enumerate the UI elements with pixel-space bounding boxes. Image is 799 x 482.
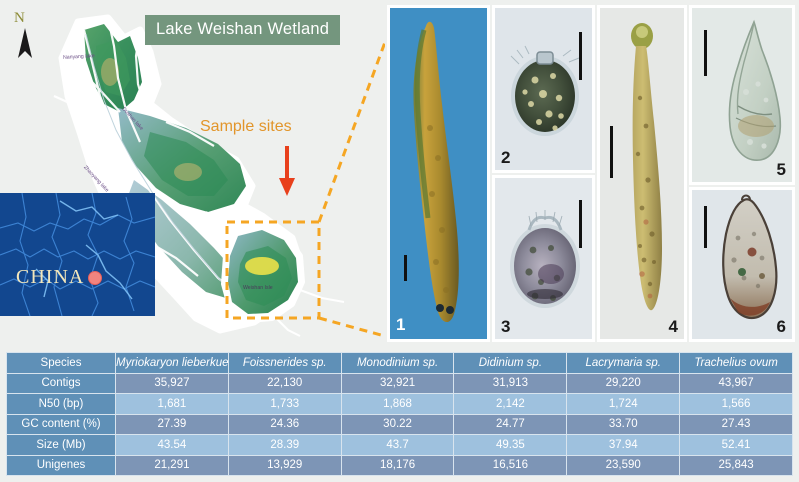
panel-number-2: 2	[501, 148, 510, 168]
row-label-unigenes: Unigenes	[7, 455, 116, 476]
cell-contigs-3: 31,913	[454, 373, 567, 394]
micrograph-panel-1: 1	[387, 5, 490, 342]
species-header-2: Monodinium sp.	[341, 353, 454, 374]
species-header-4: Lacrymaria sp.	[567, 353, 680, 374]
china-site-marker	[88, 271, 102, 285]
cell-gc-1: 24.36	[228, 414, 341, 435]
cell-unigenes-1: 13,929	[228, 455, 341, 476]
cell-n50-5: 1,566	[680, 394, 793, 415]
panel-number-4: 4	[669, 317, 678, 337]
cell-n50-1: 1,733	[228, 394, 341, 415]
cell-contigs-2: 32,921	[341, 373, 454, 394]
cell-unigenes-4: 23,590	[567, 455, 680, 476]
china-map-graphic	[0, 193, 155, 316]
cell-gc-3: 24.77	[454, 414, 567, 435]
micrograph-panel-6: 6	[689, 187, 795, 342]
cell-unigenes-0: 21,291	[116, 455, 229, 476]
table-corner-species-label: Species	[7, 353, 116, 374]
row-label-contigs: Contigs	[7, 373, 116, 394]
table-row: N50 (bp) 1,681 1,733 1,868 2,142 1,724 1…	[7, 394, 793, 415]
assembly-statistics-table: Species Myriokaryon lieberkuehnii Foissn…	[6, 352, 793, 476]
sample-sites-label: Sample sites	[200, 118, 292, 136]
cell-size-3: 49.35	[454, 435, 567, 456]
panel-number-6: 6	[777, 317, 786, 337]
china-inset-map: CHINA	[0, 193, 155, 316]
scale-bar-1	[404, 255, 407, 281]
table-row: Unigenes 21,291 13,929 18,176 16,516 23,…	[7, 455, 793, 476]
cell-contigs-0: 35,927	[116, 373, 229, 394]
sample-sites-arrow-icon	[278, 146, 296, 196]
cell-unigenes-2: 18,176	[341, 455, 454, 476]
compass-needle-icon	[16, 28, 34, 60]
scale-bar-5	[704, 30, 707, 76]
panel-number-1: 1	[396, 315, 405, 335]
cell-gc-4: 33.70	[567, 414, 680, 435]
cell-n50-2: 1,868	[341, 394, 454, 415]
panel-number-3: 3	[501, 317, 510, 337]
micrograph-panel-5: 5	[689, 5, 795, 185]
species-header-1: Foissnerides sp.	[228, 353, 341, 374]
cell-gc-2: 30.22	[341, 414, 454, 435]
scale-bar-6	[704, 206, 707, 248]
micrograph-grid: 1	[387, 5, 795, 342]
scale-bar-4	[610, 126, 613, 178]
row-label-n50: N50 (bp)	[7, 394, 116, 415]
cell-gc-5: 27.43	[680, 414, 793, 435]
species-header-3: Didinium sp.	[454, 353, 567, 374]
china-country-label: CHINA	[16, 266, 84, 289]
cell-size-4: 37.94	[567, 435, 680, 456]
table-row: Size (Mb) 43.54 28.39 43.7 49.35 37.94 5…	[7, 435, 793, 456]
foissnerides-cell-image	[495, 8, 592, 170]
micrograph-panel-2: 2	[492, 5, 595, 173]
species-header-0: Myriokaryon lieberkuehnii	[116, 353, 229, 374]
table-row: GC content (%) 27.39 24.36 30.22 24.77 3…	[7, 414, 793, 435]
north-letter: N	[14, 10, 25, 27]
micrograph-panel-4: 4	[597, 5, 687, 342]
top-section: Nanyang lake Dushan lake Zhaoyang lake W…	[0, 0, 799, 348]
north-arrow-icon: N	[8, 10, 42, 62]
cell-unigenes-3: 16,516	[454, 455, 567, 476]
scale-bar-2	[579, 32, 582, 80]
table-row: Contigs 35,927 22,130 32,921 31,913 29,2…	[7, 373, 793, 394]
monodinium-cell-image	[495, 178, 592, 339]
myriokaryon-cell-image	[390, 8, 487, 339]
lacrymaria-cell-image	[692, 8, 792, 182]
cell-size-5: 52.41	[680, 435, 793, 456]
cell-contigs-4: 29,220	[567, 373, 680, 394]
cell-size-2: 43.7	[341, 435, 454, 456]
row-label-size: Size (Mb)	[7, 435, 116, 456]
micrograph-panel-3: 3	[492, 175, 595, 342]
cell-size-1: 28.39	[228, 435, 341, 456]
cell-n50-3: 2,142	[454, 394, 567, 415]
wetland-title: Lake Weishan Wetland	[145, 15, 340, 45]
cell-unigenes-5: 25,843	[680, 455, 793, 476]
cell-n50-0: 1,681	[116, 394, 229, 415]
cell-contigs-1: 22,130	[228, 373, 341, 394]
panel-number-5: 5	[777, 160, 786, 180]
cell-contigs-5: 43,967	[680, 373, 793, 394]
species-header-5: Trachelius ovum	[680, 353, 793, 374]
assembly-statistics-table-wrap: Species Myriokaryon lieberkuehnii Foissn…	[6, 352, 793, 476]
cell-n50-4: 1,724	[567, 394, 680, 415]
table-header-row: Species Myriokaryon lieberkuehnii Foissn…	[7, 353, 793, 374]
map-panel: Nanyang lake Dushan lake Zhaoyang lake W…	[0, 0, 385, 348]
scale-bar-3	[579, 200, 582, 248]
row-label-gc-content: GC content (%)	[7, 414, 116, 435]
cell-size-0: 43.54	[116, 435, 229, 456]
cell-gc-0: 27.39	[116, 414, 229, 435]
figure-root: Nanyang lake Dushan lake Zhaoyang lake W…	[0, 0, 799, 482]
